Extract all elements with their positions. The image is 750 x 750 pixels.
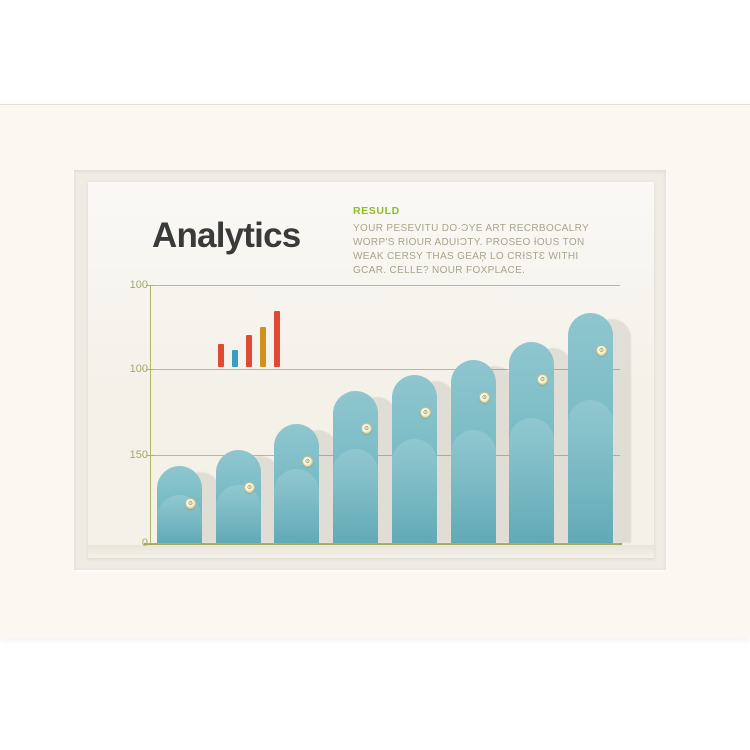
- bar[interactable]: [392, 375, 437, 543]
- y-axis-tick: [146, 369, 154, 370]
- y-axis-line: [150, 285, 151, 543]
- legend-mini-bar: [274, 311, 280, 367]
- y-axis-tick-label: 0: [114, 537, 148, 549]
- value-badge[interactable]: ⚙: [361, 423, 372, 434]
- value-badge[interactable]: ⚙: [302, 456, 313, 467]
- gridline: [150, 285, 620, 286]
- y-axis-tick: [146, 285, 154, 286]
- value-badge[interactable]: ⚙: [244, 482, 255, 493]
- description-line: WEAK CERSY THAS GEAR̦ LO CRƗSTƐ WITHI: [353, 250, 603, 264]
- legend-mini-bar: [260, 327, 266, 367]
- description-line: GCAR. CELLE? NOUR FOXPLACE.: [353, 264, 603, 278]
- bar[interactable]: [216, 450, 261, 543]
- gridline: [150, 543, 620, 544]
- plot-area: ⚙⚙⚙⚙⚙⚙⚙⚙: [150, 285, 620, 543]
- bar[interactable]: [509, 342, 554, 543]
- bar[interactable]: [333, 391, 378, 543]
- value-badge[interactable]: ⚙: [537, 374, 548, 385]
- legend-mini-bar: [232, 350, 238, 367]
- y-axis-tick: [146, 455, 154, 456]
- bar-chart: 1001001500 ⚙⚙⚙⚙⚙⚙⚙⚙: [110, 285, 620, 560]
- value-badge[interactable]: ⚙: [479, 392, 490, 403]
- bar[interactable]: [451, 360, 496, 543]
- description-line: WORP'S RIOUR ADUIƆTY. PROSEO ƗOUS TON: [353, 236, 603, 250]
- y-axis-tick-label: 100: [114, 363, 148, 375]
- value-badge[interactable]: ⚙: [185, 498, 196, 509]
- screenshot-root: Analytics RESULD YOUR PESEVITU DO·ƆYE AR…: [0, 0, 750, 750]
- y-axis-tick-label: 100: [114, 279, 148, 291]
- description-block: RESULD YOUR PESEVITU DO·ƆYE ART RECRBOCA…: [353, 205, 603, 278]
- legend-mini-bar: [218, 344, 224, 367]
- description-line: YOUR PESEVITU DO·ƆYE ART RECRBOCALRY: [353, 222, 603, 236]
- legend-mini-bar-chart: [218, 307, 290, 367]
- description-heading: RESULD: [353, 205, 603, 217]
- value-badge[interactable]: ⚙: [596, 345, 607, 356]
- page-title: Analytics: [152, 216, 300, 256]
- legend-mini-bar: [246, 335, 252, 367]
- y-axis-labels: 1001001500: [110, 285, 148, 543]
- value-badge[interactable]: ⚙: [420, 407, 431, 418]
- bar[interactable]: [274, 424, 319, 543]
- y-axis-tick-label: 150: [114, 449, 148, 461]
- y-axis-tick: [146, 543, 154, 544]
